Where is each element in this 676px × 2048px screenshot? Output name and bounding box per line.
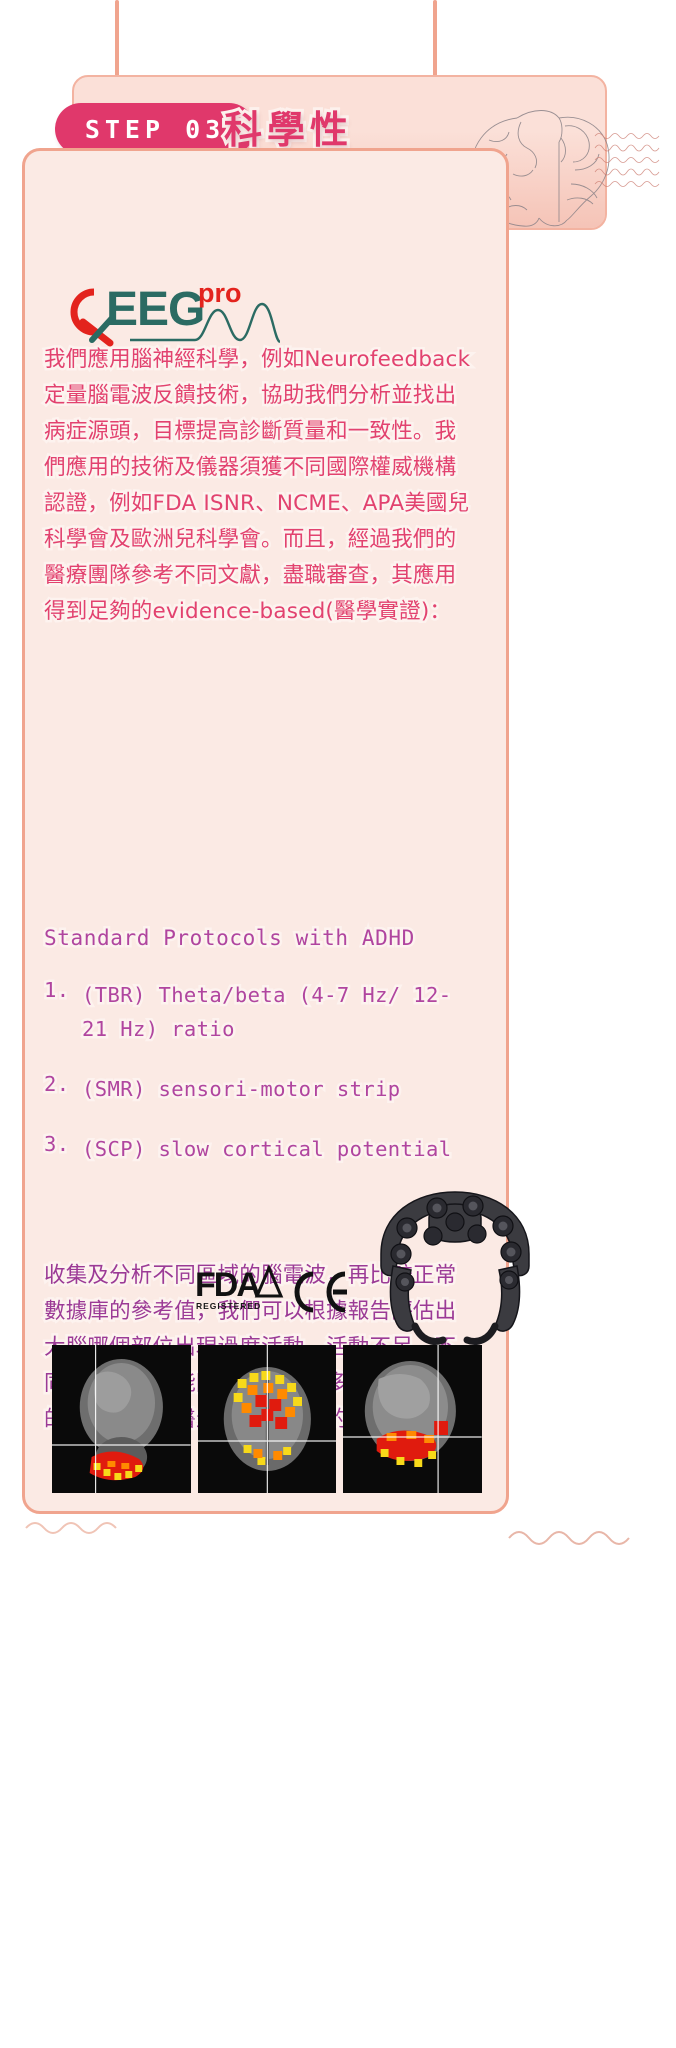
brain-scan-coronal [198,1345,337,1493]
page-title: 科學性 [224,99,353,154]
list-item-number: 1. [44,978,82,1046]
science-paragraph: 我們應用腦神經科學，例如Neurofeedback定量腦電波反饋技術，協助我們分… [44,342,474,630]
ce-mark-icon [297,1274,347,1310]
list-item-label: (SMR) sensori-motor strip [82,1072,474,1106]
fda-logo-text: FDA [195,1266,260,1304]
list-item-label: (SCP) slow cortical potential [82,1132,474,1166]
step-badge-label: STEP 03 [85,115,225,144]
list-item-label: (TBR) Theta/beta (4-7 Hz/ 12-21 Hz) rati… [82,978,474,1046]
certification-logos: FDA [195,1262,385,1324]
protocol-heading: Standard Protocols with ADHD [44,926,474,950]
eegpro-logo: EEG pro [50,270,280,348]
list-item: 3. (SCP) slow cortical potential [44,1132,474,1166]
brain-scan-axial [343,1345,482,1493]
protocol-list: 1. (TBR) Theta/beta (4-7 Hz/ 12-21 Hz) r… [44,978,474,1192]
list-item-number: 3. [44,1132,82,1166]
brain-scan-sagittal [52,1345,191,1493]
fda-registered-label: REGISTERED [196,1301,261,1311]
infographic-page: STEP 03 科學性 EEG pro 我們應用腦神經科學，例如Neurofee… [0,0,676,2048]
svg-text:EEG: EEG [106,283,204,336]
decorative-squiggle-right [505,1520,655,1548]
decorative-squiggle-left [24,1516,144,1536]
list-item-number: 2. [44,1072,82,1106]
list-item: 1. (TBR) Theta/beta (4-7 Hz/ 12-21 Hz) r… [44,978,474,1046]
brain-scan-gallery [52,1345,482,1493]
list-item: 2. (SMR) sensori-motor strip [44,1072,474,1106]
svg-text:pro: pro [198,278,242,308]
